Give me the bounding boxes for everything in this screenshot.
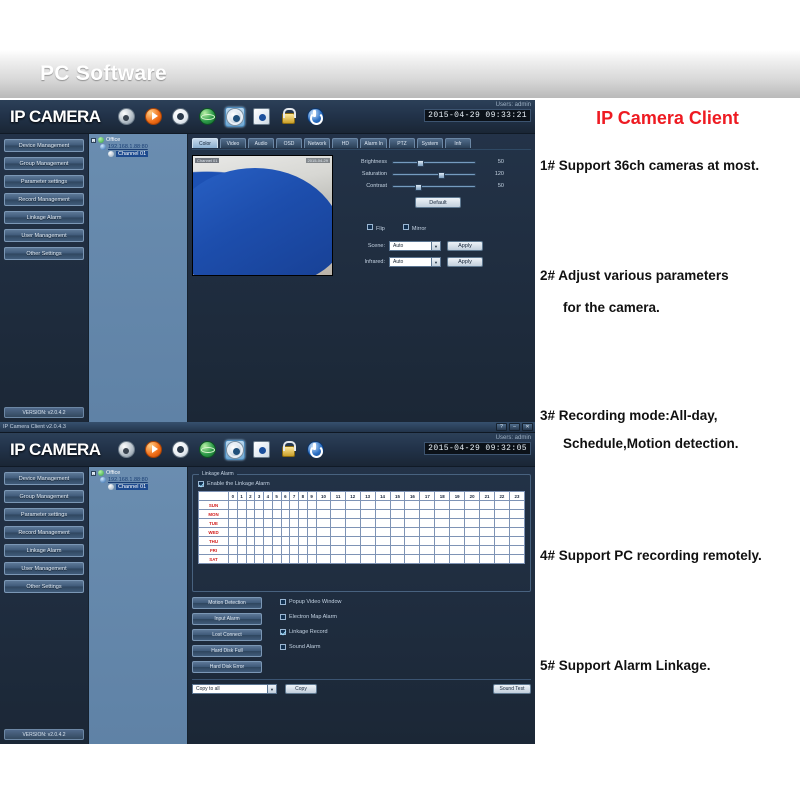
popup-video-window-row[interactable]: Popup Video Window (280, 599, 342, 605)
schedule-cell[interactable] (509, 501, 524, 510)
tab-infrared[interactable]: Infr (445, 138, 471, 148)
schedule-cell[interactable] (509, 546, 524, 555)
schedule-cell[interactable] (509, 528, 524, 537)
schedule-cell[interactable] (237, 510, 246, 519)
schedule-cell[interactable] (307, 537, 316, 546)
linkage-record-checkbox[interactable] (280, 629, 286, 635)
flip-checkbox-wrap[interactable]: Flip (367, 217, 385, 235)
playback-icon[interactable] (144, 440, 164, 460)
sidebar-item-record-management[interactable]: Record Management (4, 526, 84, 539)
schedule-cell[interactable] (290, 510, 299, 519)
schedule-cell[interactable] (299, 528, 308, 537)
schedule-cell[interactable] (255, 510, 264, 519)
copy-button[interactable]: Copy (285, 684, 317, 694)
schedule-cell[interactable] (345, 546, 360, 555)
lock-icon[interactable] (279, 107, 299, 127)
record-icon[interactable] (252, 440, 272, 460)
tab-hd[interactable]: HD (332, 138, 358, 148)
chevron-down-icon[interactable]: ▼ (431, 258, 440, 266)
user-clock-block-bottom: Users: admin 2015-04-29 09:32:05 (424, 435, 531, 455)
lost-connect-button[interactable]: Lost Connect (192, 629, 262, 641)
schedule-cell[interactable] (494, 501, 509, 510)
schedule-cell[interactable] (299, 501, 308, 510)
schedule-cell[interactable] (237, 528, 246, 537)
schedule-cell[interactable] (450, 555, 465, 564)
sidebar-item-parameter-settings[interactable]: Parameter settings (4, 508, 84, 521)
ip-camera-window-top: IP CAMERA Users: admin 2015-04-29 09:33:… (0, 100, 535, 422)
scene-select[interactable]: Auto▼ (389, 241, 441, 251)
sidebar-item-user-management[interactable]: User Management (4, 562, 84, 575)
hour-header: 4 (264, 492, 273, 501)
tab-color[interactable]: Color (192, 138, 218, 148)
sidebar-item-linkage-alarm[interactable]: Linkage Alarm (4, 544, 84, 557)
contrast-slider-knob[interactable] (415, 184, 422, 191)
flip-label: Flip (376, 226, 385, 232)
schedule-cell[interactable] (450, 510, 465, 519)
sidebar-item-device-management[interactable]: Device Management (4, 472, 84, 485)
schedule-cell[interactable] (345, 528, 360, 537)
mirror-label: Mirror (412, 226, 426, 232)
tab-ptz[interactable]: PTZ (389, 138, 415, 148)
schedule-cell[interactable] (290, 528, 299, 537)
schedule-cell[interactable] (494, 537, 509, 546)
schedule-cell[interactable] (480, 546, 495, 555)
tree-expander-icon[interactable]: - (91, 471, 96, 476)
table-row[interactable]: MON (199, 510, 525, 519)
schedule-cell[interactable] (246, 519, 255, 528)
tab-video[interactable]: Video (220, 138, 246, 148)
schedule-cell[interactable] (272, 501, 281, 510)
schedule-cell[interactable] (375, 501, 390, 510)
scene-apply-button[interactable]: Apply (447, 241, 483, 251)
copy-to-select[interactable]: Copy to all ▼ (192, 684, 277, 694)
sound-alarm-checkbox[interactable] (280, 644, 286, 650)
schedule-cell[interactable] (494, 510, 509, 519)
schedule-cell[interactable] (316, 528, 331, 537)
schedule-cell[interactable] (246, 555, 255, 564)
schedule-cell[interactable] (255, 528, 264, 537)
sound-alarm-row[interactable]: Sound Alarm (280, 644, 342, 650)
schedule-cell[interactable] (405, 501, 420, 510)
schedule-cell[interactable] (345, 537, 360, 546)
record-icon[interactable] (252, 107, 272, 127)
schedule-cell[interactable] (390, 501, 405, 510)
user-clock-block-top: Users: admin 2015-04-29 09:33:21 (424, 102, 531, 122)
sidebar-item-other-settings[interactable]: Other Settings (4, 247, 84, 260)
saturation-value: 120 (482, 171, 504, 177)
video-overlay-date: 2015-04-29 (306, 158, 330, 163)
schedule-cell[interactable] (375, 528, 390, 537)
table-row[interactable]: FRI (199, 546, 525, 555)
device-tree-bottom[interactable]: - Office 192.168.1.88:80 Channel 01 (88, 467, 188, 744)
schedule-cell[interactable] (494, 519, 509, 528)
schedule-cell[interactable] (375, 519, 390, 528)
motion-detection-button[interactable]: Motion Detection (192, 597, 262, 609)
schedule-cell[interactable] (420, 537, 435, 546)
schedule-cell[interactable] (316, 555, 331, 564)
tab-alarm-in[interactable]: Alarm In (360, 138, 387, 148)
schedule-cell[interactable] (281, 510, 290, 519)
tree-channel-label: Channel 01 (116, 151, 148, 157)
schedule-cell[interactable] (281, 546, 290, 555)
schedule-cell[interactable] (405, 555, 420, 564)
settings-gear-icon[interactable] (225, 107, 245, 127)
sidebar-item-group-management[interactable]: Group Management (4, 490, 84, 503)
schedule-cell[interactable] (331, 555, 345, 564)
tree-node-channel[interactable]: Channel 01 (91, 484, 185, 490)
schedule-cell[interactable] (264, 537, 273, 546)
linkage-actions-area: Motion Detection Input Alarm Lost Connec… (192, 597, 531, 673)
schedule-cell[interactable] (375, 537, 390, 546)
schedule-cell[interactable] (331, 501, 345, 510)
schedule-cell[interactable] (299, 510, 308, 519)
linkage-record-label: Linkage Record (289, 629, 328, 635)
settings-gear-icon[interactable] (225, 440, 245, 460)
tab-osd[interactable]: OSD (276, 138, 302, 148)
schedule-cell[interactable] (246, 528, 255, 537)
schedule-cell[interactable] (316, 519, 331, 528)
playback-icon[interactable] (144, 107, 164, 127)
tab-network[interactable]: Network (304, 138, 330, 148)
schedule-cell[interactable] (375, 510, 390, 519)
power-icon[interactable] (306, 107, 326, 127)
schedule-cell[interactable] (255, 537, 264, 546)
table-row[interactable]: SAT (199, 555, 525, 564)
schedule-cell[interactable] (480, 519, 495, 528)
schedule-cell[interactable] (405, 546, 420, 555)
schedule-cell[interactable] (331, 537, 345, 546)
schedule-cell[interactable] (465, 546, 480, 555)
schedule-cell[interactable] (450, 537, 465, 546)
enable-linkage-row[interactable]: Enable the Linkage Alarm (198, 481, 525, 487)
schedule-cell[interactable] (246, 510, 255, 519)
schedule-cell[interactable] (360, 501, 375, 510)
schedule-cell[interactable] (405, 528, 420, 537)
schedule-cell[interactable] (246, 537, 255, 546)
schedule-cell[interactable] (229, 501, 238, 510)
schedule-cell[interactable] (360, 537, 375, 546)
schedule-cell[interactable] (299, 546, 308, 555)
schedule-cell[interactable] (290, 537, 299, 546)
schedule-cell[interactable] (345, 501, 360, 510)
sidebar-item-linkage-alarm[interactable]: Linkage Alarm (4, 211, 84, 224)
schedule-cell[interactable] (255, 546, 264, 555)
schedule-body[interactable]: SUNMONTUEWEDTHUFRISAT (199, 501, 525, 564)
lock-icon[interactable] (279, 440, 299, 460)
schedule-cell[interactable] (264, 510, 273, 519)
schedule-cell[interactable] (237, 546, 246, 555)
schedule-cell[interactable] (360, 519, 375, 528)
popup-video-window-checkbox[interactable] (280, 599, 286, 605)
schedule-cell[interactable] (435, 555, 450, 564)
schedule-cell[interactable] (316, 537, 331, 546)
schedule-cell[interactable] (290, 546, 299, 555)
schedule-cell[interactable] (307, 528, 316, 537)
sound-test-button[interactable]: Sound Test (493, 684, 531, 694)
color-controls: Brightness 50 Saturation 120 Contrast (333, 155, 531, 276)
hour-header: 8 (299, 492, 308, 501)
electron-map-alarm-label: Electron Map Alarm (289, 614, 337, 620)
ptz-control-icon[interactable] (171, 440, 191, 460)
sidebar-item-other-settings[interactable]: Other Settings (4, 580, 84, 593)
sidebar-item-device-management[interactable]: Device Management (4, 139, 84, 152)
schedule-cell[interactable] (390, 555, 405, 564)
minimize-button[interactable]: – (509, 423, 520, 431)
schedule-cell[interactable] (420, 510, 435, 519)
brand-logo: IP CAMERA (10, 107, 101, 127)
schedule-cell[interactable] (331, 546, 345, 555)
window-body-bottom: Device Management Group Management Param… (0, 467, 535, 744)
schedule-cell[interactable] (509, 555, 524, 564)
schedule-cell[interactable] (272, 546, 281, 555)
close-button[interactable]: ✕ (522, 423, 533, 431)
schedule-cell[interactable] (375, 555, 390, 564)
schedule-cell[interactable] (307, 510, 316, 519)
sidebar-item-record-management[interactable]: Record Management (4, 193, 84, 206)
schedule-cell[interactable] (281, 537, 290, 546)
schedule-cell[interactable] (229, 519, 238, 528)
schedule-cell[interactable] (465, 510, 480, 519)
schedule-cell[interactable] (435, 546, 450, 555)
schedule-cell[interactable] (494, 546, 509, 555)
electron-map-alarm-row[interactable]: Electron Map Alarm (280, 614, 342, 620)
schedule-cell[interactable] (405, 537, 420, 546)
hard-disk-error-button[interactable]: Hard Disk Error (192, 661, 262, 673)
network-globe-icon[interactable] (198, 107, 218, 127)
schedule-cell[interactable] (299, 555, 308, 564)
feature-item-5: 5# Support Alarm Linkage. (540, 658, 711, 673)
tab-system[interactable]: System (417, 138, 443, 148)
schedule-cell[interactable] (345, 510, 360, 519)
camera-dome-icon[interactable] (117, 440, 137, 460)
hour-header: 9 (307, 492, 316, 501)
ptz-control-icon[interactable] (171, 107, 191, 127)
schedule-cell[interactable] (435, 510, 450, 519)
schedule-cell[interactable] (390, 528, 405, 537)
schedule-cell[interactable] (281, 555, 290, 564)
sidebar-bottom: Device Management Group Management Param… (0, 467, 88, 744)
schedule-cell[interactable] (229, 528, 238, 537)
table-row[interactable]: THU (199, 537, 525, 546)
sidebar-item-user-management[interactable]: User Management (4, 229, 84, 242)
video-preview[interactable]: Channel 01 2015-04-29 (192, 155, 333, 276)
schedule-cell[interactable] (264, 555, 273, 564)
schedule-cell[interactable] (390, 546, 405, 555)
schedule-cell[interactable] (237, 555, 246, 564)
schedule-cell[interactable] (255, 555, 264, 564)
schedule-cell[interactable] (307, 546, 316, 555)
tree-node-channel[interactable]: Channel 01 (91, 151, 185, 157)
schedule-cell[interactable] (465, 501, 480, 510)
schedule-cell[interactable] (360, 555, 375, 564)
schedule-cell[interactable] (272, 555, 281, 564)
schedule-cell[interactable] (360, 510, 375, 519)
schedule-cell[interactable] (509, 510, 524, 519)
schedule-cell[interactable] (494, 528, 509, 537)
chevron-down-icon[interactable]: ▼ (431, 242, 440, 250)
schedule-cell[interactable] (435, 528, 450, 537)
input-alarm-button[interactable]: Input Alarm (192, 613, 262, 625)
tree-node-device[interactable]: 192.168.1.88:80 (91, 477, 185, 483)
enable-linkage-checkbox[interactable] (198, 481, 204, 487)
schedule-cell[interactable] (390, 537, 405, 546)
hour-header: 10 (316, 492, 331, 501)
schedule-cell[interactable] (465, 555, 480, 564)
tab-audio[interactable]: Audio (248, 138, 274, 148)
schedule-cell[interactable] (255, 519, 264, 528)
schedule-cell[interactable] (494, 555, 509, 564)
schedule-cell[interactable] (480, 510, 495, 519)
sound-alarm-label: Sound Alarm (289, 644, 321, 650)
schedule-cell[interactable] (480, 555, 495, 564)
hard-disk-full-button[interactable]: Hard Disk Full (192, 645, 262, 657)
schedule-cell[interactable] (299, 537, 308, 546)
schedule-cell[interactable] (450, 519, 465, 528)
schedule-cell[interactable] (290, 519, 299, 528)
schedule-cell[interactable] (237, 537, 246, 546)
default-button[interactable]: Default (415, 197, 461, 208)
schedule-cell[interactable] (390, 519, 405, 528)
main-panel-top: Color Video Audio OSD Network HD Alarm I… (188, 134, 535, 422)
schedule-cell[interactable] (331, 519, 345, 528)
schedule-cell[interactable] (480, 501, 495, 510)
schedule-cell[interactable] (299, 519, 308, 528)
schedule-cell[interactable] (345, 519, 360, 528)
sidebar-item-parameter-settings[interactable]: Parameter settings (4, 175, 84, 188)
flip-checkbox[interactable] (367, 224, 373, 230)
version-label-top: VERSION: v2.0.4.2 (4, 407, 84, 418)
schedule-cell[interactable] (246, 501, 255, 510)
schedule-cell[interactable] (435, 537, 450, 546)
schedule-cell[interactable] (264, 501, 273, 510)
schedule-cell[interactable] (246, 546, 255, 555)
schedule-cell[interactable] (316, 501, 331, 510)
tree-node-root[interactable]: - Office (91, 137, 185, 143)
infrared-select[interactable]: Auto▼ (389, 257, 441, 267)
schedule-cell[interactable] (450, 546, 465, 555)
schedule-cell[interactable] (465, 528, 480, 537)
schedule-cell[interactable] (405, 510, 420, 519)
saturation-slider-knob[interactable] (438, 172, 445, 179)
brightness-slider-knob[interactable] (417, 160, 424, 167)
electron-map-alarm-checkbox[interactable] (280, 614, 286, 620)
schedule-cell[interactable] (450, 501, 465, 510)
schedule-cell[interactable] (465, 519, 480, 528)
schedule-cell[interactable] (331, 528, 345, 537)
schedule-cell[interactable] (375, 546, 390, 555)
schedule-cell[interactable] (307, 519, 316, 528)
schedule-cell[interactable] (435, 519, 450, 528)
schedule-cell[interactable] (480, 537, 495, 546)
schedule-cell[interactable] (420, 546, 435, 555)
table-row[interactable]: SUN (199, 501, 525, 510)
mirror-checkbox[interactable] (403, 224, 409, 230)
tree-node-device[interactable]: 192.168.1.88:80 (91, 144, 185, 150)
schedule-cell[interactable] (345, 555, 360, 564)
schedule-cell[interactable] (264, 546, 273, 555)
schedule-cell[interactable] (420, 528, 435, 537)
schedule-cell[interactable] (435, 501, 450, 510)
brightness-slider[interactable] (392, 161, 476, 164)
mirror-checkbox-wrap[interactable]: Mirror (403, 217, 426, 235)
schedule-cell[interactable] (420, 519, 435, 528)
schedule-cell[interactable] (272, 537, 281, 546)
infrared-label: Infrared: (353, 259, 385, 265)
schedule-cell[interactable] (281, 519, 290, 528)
tree-node-root[interactable]: - Office (91, 470, 185, 476)
schedule-cell[interactable] (272, 519, 281, 528)
schedule-cell[interactable] (281, 528, 290, 537)
schedule-cell[interactable] (281, 501, 290, 510)
brand-toolbar-bottom: IP CAMERA Users: admin 2015-04-29 09:32:… (0, 433, 535, 467)
schedule-cell[interactable] (229, 555, 238, 564)
schedule-cell[interactable] (272, 510, 281, 519)
saturation-label: Saturation (345, 171, 387, 177)
hour-header: 15 (390, 492, 405, 501)
schedule-cell[interactable] (465, 537, 480, 546)
schedule-cell[interactable] (237, 501, 246, 510)
schedule-cell[interactable] (290, 501, 299, 510)
schedule-cell[interactable] (264, 528, 273, 537)
bottom-white-strip (0, 744, 800, 800)
contrast-slider[interactable] (392, 185, 476, 188)
schedule-cell[interactable] (420, 501, 435, 510)
scene-label: Scene: (353, 243, 385, 249)
schedule-cell[interactable] (509, 537, 524, 546)
schedule-grid[interactable]: 0 1 2 3 4 5 6 7 8 9 10 1 (198, 491, 525, 564)
schedule-cell[interactable] (316, 546, 331, 555)
schedule-cell[interactable] (420, 555, 435, 564)
top-white-strip (0, 0, 800, 50)
network-globe-icon[interactable] (198, 440, 218, 460)
schedule-cell[interactable] (307, 501, 316, 510)
schedule-cell[interactable] (405, 519, 420, 528)
schedule-cell[interactable] (237, 519, 246, 528)
sidebar-item-group-management[interactable]: Group Management (4, 157, 84, 170)
schedule-cell[interactable] (450, 528, 465, 537)
flip-mirror-row: Flip Mirror (367, 217, 531, 235)
camera-dome-icon[interactable] (117, 107, 137, 127)
tree-expander-icon[interactable]: - (91, 138, 96, 143)
chevron-down-icon[interactable]: ▼ (267, 685, 276, 693)
schedule-cell[interactable] (255, 501, 264, 510)
schedule-cell[interactable] (480, 528, 495, 537)
power-icon[interactable] (306, 440, 326, 460)
schedule-cell[interactable] (316, 510, 331, 519)
saturation-slider[interactable] (392, 173, 476, 176)
schedule-cell[interactable] (360, 528, 375, 537)
device-tree-top[interactable]: - Office 192.168.1.88:80 Channel 01 (88, 134, 188, 422)
schedule-cell[interactable] (272, 528, 281, 537)
linkage-record-row[interactable]: Linkage Record (280, 629, 342, 635)
hour-header: 23 (509, 492, 524, 501)
help-button[interactable]: ? (496, 423, 507, 431)
schedule-cell[interactable] (229, 537, 238, 546)
infrared-apply-button[interactable]: Apply (447, 257, 483, 267)
schedule-cell[interactable] (509, 519, 524, 528)
table-row[interactable]: WED (199, 528, 525, 537)
schedule-cell[interactable] (290, 555, 299, 564)
table-row[interactable]: TUE (199, 519, 525, 528)
schedule-cell[interactable] (229, 510, 238, 519)
schedule-cell[interactable] (390, 510, 405, 519)
schedule-cell[interactable] (331, 510, 345, 519)
schedule-cell[interactable] (360, 546, 375, 555)
schedule-cell[interactable] (307, 555, 316, 564)
sidebar-top: Device Management Group Management Param… (0, 134, 88, 422)
schedule-cell[interactable] (264, 519, 273, 528)
schedule-cell[interactable] (229, 546, 238, 555)
